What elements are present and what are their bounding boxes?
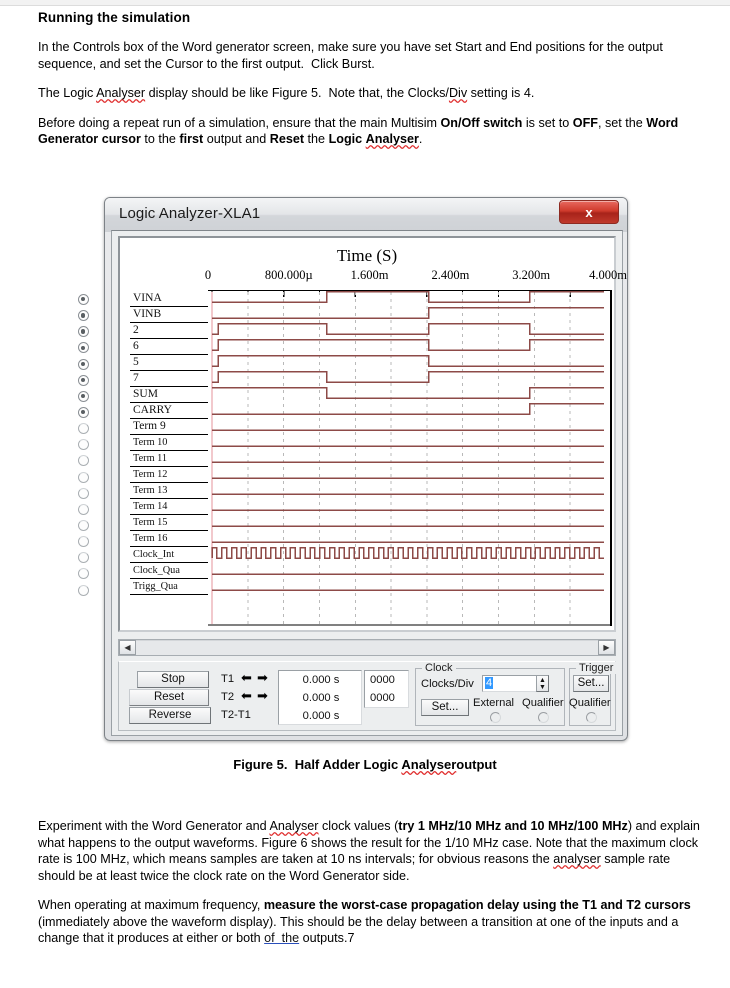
axis-tick-3: 2.400m xyxy=(431,268,469,283)
channel-radio-trigg-qua[interactable] xyxy=(78,585,89,596)
trigger-set-button[interactable]: Set... xyxy=(573,675,609,692)
channel-label-term-10: Term 10 xyxy=(130,435,208,451)
paragraph-1: In the Controls box of the Word generato… xyxy=(38,39,698,72)
channel-label-carry: CARRY xyxy=(130,403,208,419)
t2-code-value: 0000 xyxy=(370,692,395,704)
time-axis-labels: 0 800.000µ 1.600m 2.400m 3.200m 4.000m xyxy=(208,268,612,288)
t2-minus-t1-label: T2-T1 xyxy=(221,709,251,721)
clock-group: Clock Clocks/Div 4 ▲▼ Set... External Qu… xyxy=(415,668,565,726)
clock-group-legend: Clock xyxy=(422,662,456,674)
channel-radio-7[interactable] xyxy=(78,375,89,386)
channel-radio-2[interactable] xyxy=(78,326,89,337)
channel-radio-5[interactable] xyxy=(78,359,89,370)
channel-label-term-16: Term 16 xyxy=(130,531,208,547)
axis-tick-1: 800.000µ xyxy=(265,268,313,283)
transport-button-group: Stop Reset Reverse xyxy=(129,671,215,725)
scrollbar-track[interactable] xyxy=(136,640,598,655)
t2-minus-t1-time-value: 0.000 s xyxy=(279,710,363,722)
clocks-per-div-spinner[interactable]: ▲▼ xyxy=(536,675,549,692)
cursor-time-readout: 0.000 s 0.000 s 0.000 s xyxy=(278,670,362,725)
figure-caption: Figure 5. Half Adder Logic Analyseroutpu… xyxy=(0,757,730,772)
channel-label-sum: SUM xyxy=(130,387,208,403)
stop-button[interactable]: Stop xyxy=(137,671,209,688)
channel-radio-vina[interactable] xyxy=(78,294,89,305)
channel-radio-term-16[interactable] xyxy=(78,536,89,547)
paragraph-4: Experiment with the Word Generator and A… xyxy=(38,818,703,884)
document-bottom-text: Experiment with the Word Generator and A… xyxy=(38,818,703,960)
channel-label-clock-qua: Clock_Qua xyxy=(130,563,208,579)
clocks-per-div-value[interactable]: 4 xyxy=(485,677,493,689)
clock-qualifier-label: Qualifier xyxy=(522,697,564,709)
channel-radio-6[interactable] xyxy=(78,342,89,353)
paragraph-3: Before doing a repeat run of a simulatio… xyxy=(38,115,698,148)
channel-label-column: VINAVINB2657SUMCARRYTerm 9Term 10Term 11… xyxy=(130,291,208,595)
channel-radio-term-15[interactable] xyxy=(78,520,89,531)
scroll-right-icon[interactable]: ▶ xyxy=(598,640,615,655)
window-client-area: Time (S) 0 800.000µ 1.600m 2.400m 3.200m… xyxy=(111,230,623,736)
channel-radio-term-11[interactable] xyxy=(78,455,89,466)
clock-set-button[interactable]: Set... xyxy=(421,699,469,716)
waveform-canvas: Time (S) 0 800.000µ 1.600m 2.400m 3.200m… xyxy=(120,238,614,630)
axis-tick-4: 3.200m xyxy=(512,268,550,283)
channel-label-term-13: Term 13 xyxy=(130,483,208,499)
trigger-group-legend: Trigger xyxy=(576,662,616,674)
channel-label-6: 6 xyxy=(130,339,208,355)
axis-tick-0: 0 xyxy=(205,268,211,283)
axis-tick-2: 1.600m xyxy=(351,268,389,283)
channel-label-5: 5 xyxy=(130,355,208,371)
channel-label-term-11: Term 11 xyxy=(130,451,208,467)
t1-left-arrow-icon[interactable]: ⬅ xyxy=(241,671,252,684)
reverse-button[interactable]: Reverse xyxy=(129,707,211,724)
t1-code-value: 0000 xyxy=(370,674,395,686)
waveform-svg xyxy=(208,290,612,626)
t1-label: T1 xyxy=(221,673,234,685)
waveform-display-panel: Time (S) 0 800.000µ 1.600m 2.400m 3.200m… xyxy=(118,236,616,632)
channel-radio-vinb[interactable] xyxy=(78,310,89,321)
channel-enable-radio-column[interactable] xyxy=(78,294,102,601)
channel-radio-term-13[interactable] xyxy=(78,488,89,499)
t1-time-value: 0.000 s xyxy=(279,674,363,686)
channel-label-term-9: Term 9 xyxy=(130,419,208,435)
page-number: 7 xyxy=(347,931,354,945)
channel-radio-clock-qua[interactable] xyxy=(78,568,89,579)
waveform-sum xyxy=(212,388,604,399)
channel-radio-term-10[interactable] xyxy=(78,439,89,450)
t2-left-arrow-icon[interactable]: ⬅ xyxy=(241,689,252,702)
control-panel: Stop Reset Reverse T1 ⬅ ➡ T2 ⬅ ➡ T2-T1 0… xyxy=(118,661,616,731)
clock-qualifier-radio[interactable] xyxy=(538,712,549,723)
channel-label-2: 2 xyxy=(130,323,208,339)
waveform-vina xyxy=(212,292,604,303)
plot-title: Time (S) xyxy=(120,246,614,266)
waveform-2 xyxy=(212,324,604,335)
close-icon[interactable]: x xyxy=(559,200,619,224)
channel-label-7: 7 xyxy=(130,371,208,387)
cursor-code-readout: 0000 0000 xyxy=(364,670,409,708)
channel-radio-term-9[interactable] xyxy=(78,423,89,434)
scroll-left-icon[interactable]: ◀ xyxy=(119,640,136,655)
clock-external-label: External xyxy=(473,697,514,709)
channel-radio-carry[interactable] xyxy=(78,407,89,418)
trigger-qualifier-label: Qualifier xyxy=(569,697,611,709)
channel-label-clock-int: Clock_Int xyxy=(130,547,208,563)
page-top-edge xyxy=(0,0,730,6)
trigger-qualifier-radio[interactable] xyxy=(586,712,597,723)
window-titlebar[interactable]: Logic Analyzer-XLA1 x xyxy=(105,198,627,232)
waveform-6 xyxy=(212,340,604,351)
waveform-vinb xyxy=(212,308,604,319)
page-title: Running the simulation xyxy=(38,10,698,25)
t2-right-arrow-icon[interactable]: ➡ xyxy=(257,689,268,702)
waveform-clock-int xyxy=(212,548,604,559)
document-top-text: Running the simulation In the Controls b… xyxy=(38,10,698,161)
waveform-7 xyxy=(212,372,604,383)
paragraph-5: When operating at maximum frequency, mea… xyxy=(38,897,703,947)
paragraph-2: The Logic Analyser display should be lik… xyxy=(38,85,698,102)
channel-radio-clock-int[interactable] xyxy=(78,552,89,563)
channel-label-term-15: Term 15 xyxy=(130,515,208,531)
channel-label-vinb: VINB xyxy=(130,307,208,323)
horizontal-scrollbar[interactable]: ◀ ▶ xyxy=(118,639,616,656)
waveform-plot-area[interactable] xyxy=(208,290,612,626)
t2-label: T2 xyxy=(221,691,234,703)
clocks-per-div-label: Clocks/Div xyxy=(421,678,474,690)
waveform-carry xyxy=(212,404,604,415)
channel-radio-sum[interactable] xyxy=(78,391,89,402)
trigger-group: Trigger Set... Qualifier xyxy=(569,668,611,726)
clock-external-radio[interactable] xyxy=(490,712,501,723)
channel-radio-term-12[interactable] xyxy=(78,472,89,483)
t2-time-value: 0.000 s xyxy=(279,692,363,704)
waveform-5 xyxy=(212,356,604,367)
cursor-readout-group: T1 ⬅ ➡ T2 ⬅ ➡ T2-T1 0.000 s 0.000 s 0.00… xyxy=(221,671,401,725)
logic-analyzer-window: Logic Analyzer-XLA1 x Time (S) 0 800.000… xyxy=(104,197,628,741)
channel-label-term-14: Term 14 xyxy=(130,499,208,515)
axis-tick-5: 4.000m xyxy=(589,268,627,283)
t1-right-arrow-icon[interactable]: ➡ xyxy=(257,671,268,684)
channel-label-vina: VINA xyxy=(130,291,208,307)
channel-label-term-12: Term 12 xyxy=(130,467,208,483)
channel-label-trigg-qua: Trigg_Qua xyxy=(130,579,208,595)
reset-button[interactable]: Reset xyxy=(129,689,209,706)
channel-radio-term-14[interactable] xyxy=(78,504,89,515)
window-title: Logic Analyzer-XLA1 xyxy=(119,205,260,222)
